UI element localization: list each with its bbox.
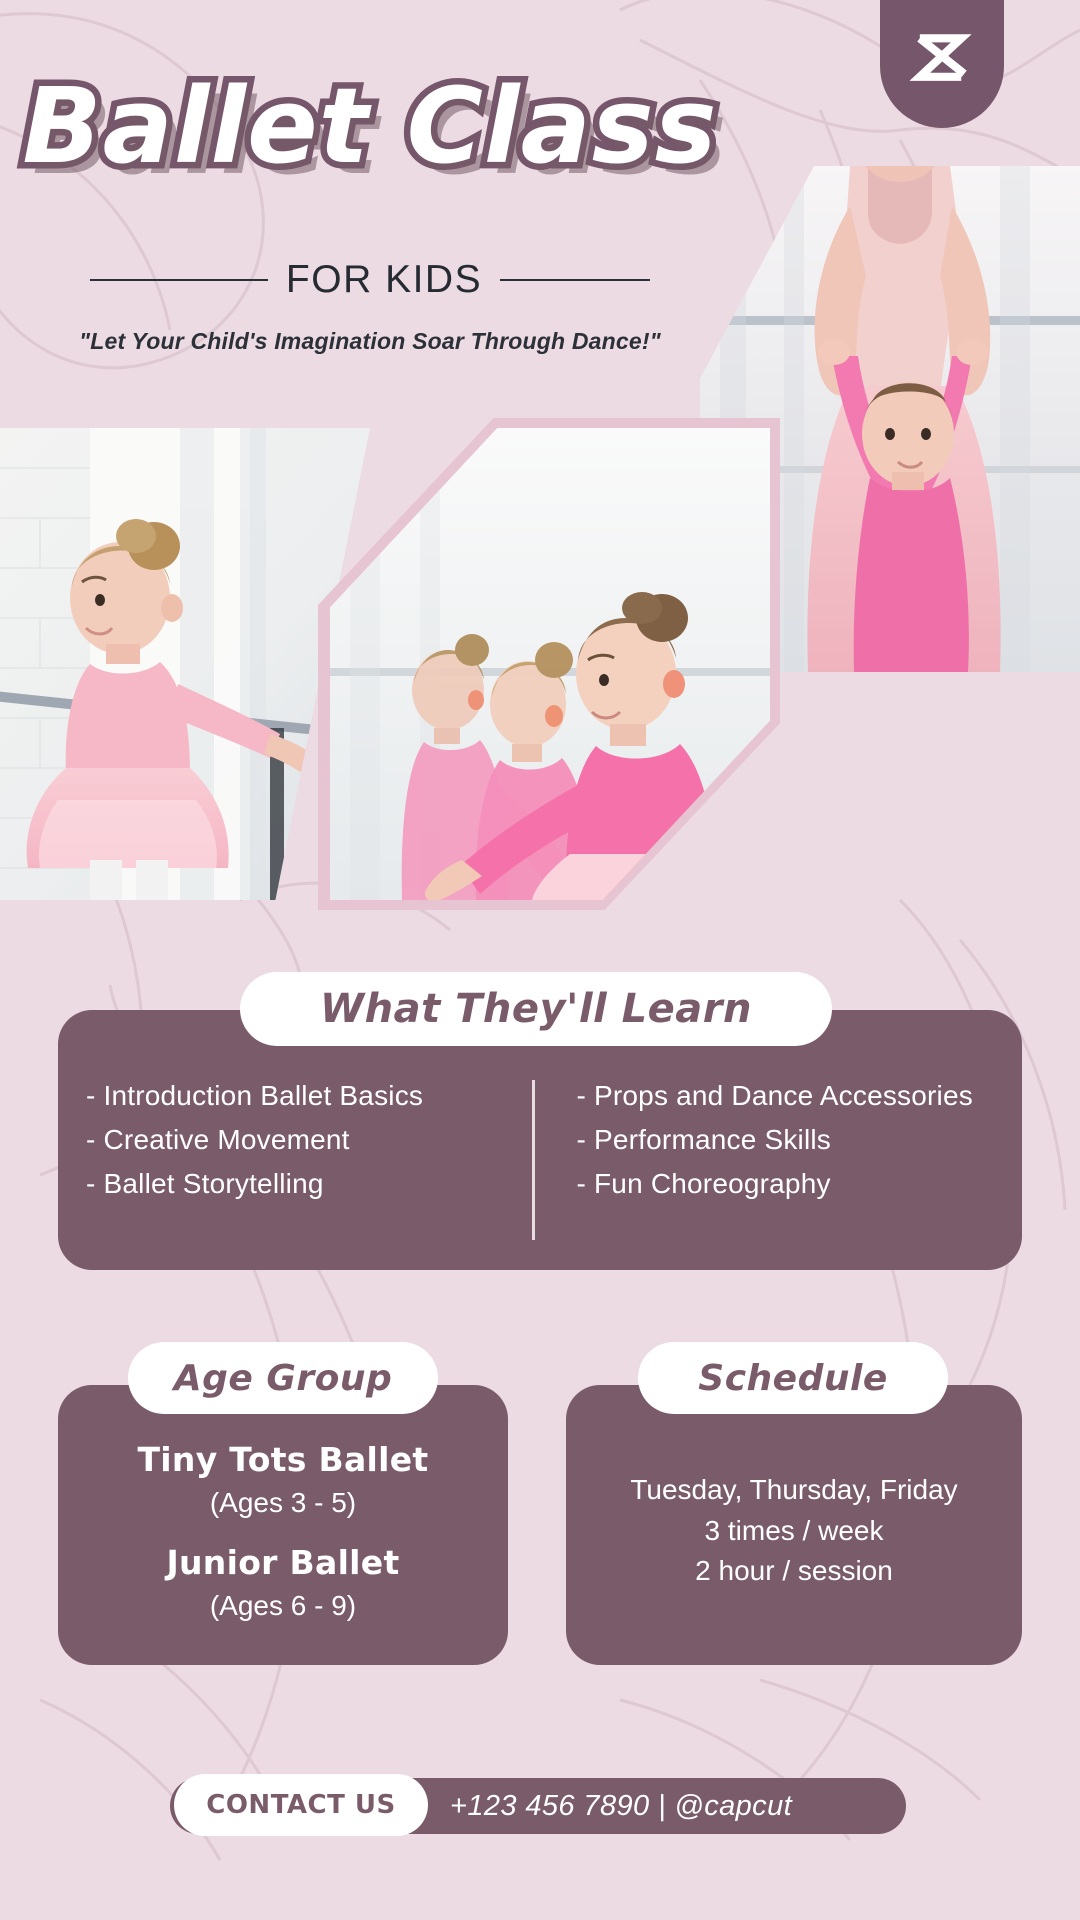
age-group-title: Tiny Tots Ballet	[58, 1440, 508, 1479]
contact-us-button[interactable]: CONTACT US	[174, 1774, 428, 1836]
schedule-line: 2 hour / session	[566, 1551, 1022, 1592]
subtitle-rule-left	[90, 279, 268, 281]
list-item: - Ballet Storytelling	[86, 1168, 532, 1200]
list-item: - Props and Dance Accessories	[577, 1080, 1023, 1112]
contact-details: +123 456 7890 | @capcut	[450, 1778, 792, 1834]
group-of-girls-photo	[330, 428, 770, 900]
list-item: - Performance Skills	[577, 1124, 1023, 1156]
list-item: - Fun Choreography	[577, 1168, 1023, 1200]
list-item: - Introduction Ballet Basics	[86, 1080, 532, 1112]
schedule-line: 3 times / week	[566, 1511, 1022, 1552]
age-group-heading-pill: Age Group	[128, 1342, 438, 1414]
age-group-title: Junior Ballet	[58, 1543, 508, 1582]
what-they-will-learn-heading: What They'll Learn	[320, 986, 752, 1032]
schedule-heading-pill: Schedule	[638, 1342, 948, 1414]
page-title: Ballet Class	[0, 72, 740, 181]
learn-left-column: - Introduction Ballet Basics - Creative …	[58, 1080, 532, 1240]
contact-us-label: CONTACT US	[206, 1790, 396, 1820]
subtitle: FOR KIDS	[286, 258, 482, 302]
age-group-body: Tiny Tots Ballet (Ages 3 - 5) Junior Bal…	[58, 1440, 508, 1622]
girl-at-barre-photo	[0, 428, 370, 900]
list-item: - Creative Movement	[86, 1124, 532, 1156]
capcut-logo-icon	[905, 22, 979, 96]
learn-right-column: - Props and Dance Accessories - Performa…	[532, 1080, 1023, 1240]
age-group-range: (Ages 6 - 9)	[58, 1590, 508, 1622]
poster-canvas: Ballet Class FOR KIDS "Let Your Child's …	[0, 0, 1080, 1920]
title-block: Ballet Class	[0, 72, 740, 181]
tagline: "Let Your Child's Imagination Soar Throu…	[0, 328, 740, 355]
age-group-range: (Ages 3 - 5)	[58, 1487, 508, 1519]
what-they-will-learn-heading-pill: What They'll Learn	[240, 972, 832, 1046]
capcut-logo-badge	[880, 0, 1004, 128]
subtitle-rule-right	[500, 279, 650, 281]
schedule-heading: Schedule	[698, 1358, 887, 1399]
subtitle-row: FOR KIDS	[0, 258, 740, 302]
age-group-heading: Age Group	[174, 1358, 393, 1399]
what-they-will-learn-body: - Introduction Ballet Basics - Creative …	[58, 1080, 1022, 1240]
schedule-line: Tuesday, Thursday, Friday	[566, 1470, 1022, 1511]
schedule-body: Tuesday, Thursday, Friday 3 times / week…	[566, 1470, 1022, 1592]
age-group-spacer	[58, 1519, 508, 1543]
